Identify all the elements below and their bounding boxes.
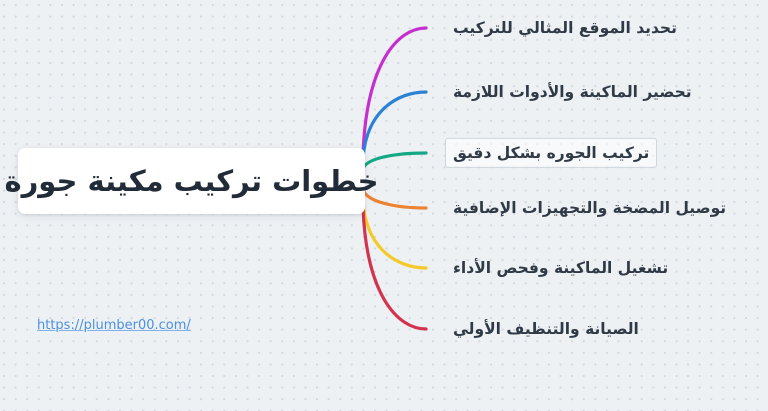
branch-label-1[interactable]: تحديد الموقع المثالي للتركيب <box>445 13 685 43</box>
branch-label-text: تركيب الجوره بشكل دقيق <box>453 144 649 162</box>
branch-label-6[interactable]: الصيانة والتنظيف الأولي <box>445 314 647 344</box>
branch-connector <box>363 92 426 159</box>
branch-label-4[interactable]: توصيل المضخة والتجهيزات الإضافية <box>445 193 734 223</box>
branch-label-3[interactable]: تركيب الجوره بشكل دقيق <box>445 138 657 168</box>
branch-label-text: تحديد الموقع المثالي للتركيب <box>453 19 677 37</box>
branch-connector <box>363 207 426 329</box>
root-node-label: خطوات تركيب مكينة جورة <box>4 163 378 199</box>
branch-label-text: الصيانة والتنظيف الأولي <box>453 320 639 338</box>
branch-label-2[interactable]: تحضير الماكينة والأدوات اللازمة <box>445 77 700 107</box>
branch-connector <box>363 201 426 268</box>
branch-label-text: توصيل المضخة والتجهيزات الإضافية <box>453 199 726 217</box>
branch-label-text: تشغيل الماكينة وفحص الأداء <box>453 259 668 277</box>
source-url-link[interactable]: https://plumber00.com/ <box>37 318 191 333</box>
branch-connector <box>363 28 426 155</box>
branch-label-text: تحضير الماكينة والأدوات اللازمة <box>453 83 692 101</box>
branch-label-5[interactable]: تشغيل الماكينة وفحص الأداء <box>445 253 676 283</box>
mindmap-canvas[interactable]: خطوات تركيب مكينة جورة تحديد الموقع المث… <box>0 0 768 411</box>
root-node[interactable]: خطوات تركيب مكينة جورة <box>18 148 365 214</box>
